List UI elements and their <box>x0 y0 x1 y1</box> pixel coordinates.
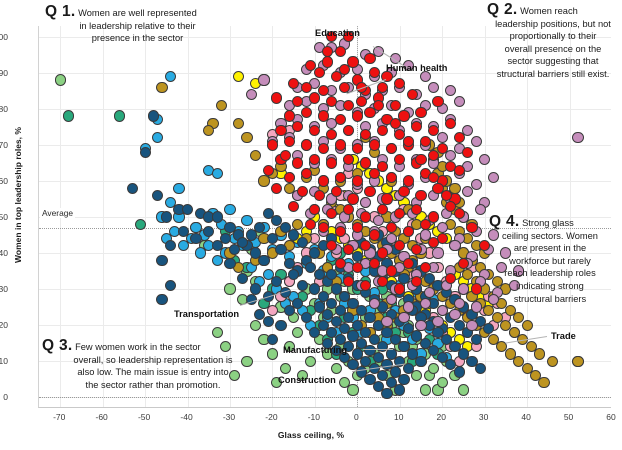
scatter-point <box>233 118 244 129</box>
label-education: Education <box>315 28 360 38</box>
x-axis-tick-label: -30 <box>209 412 249 422</box>
label-construction: Construction <box>278 375 336 385</box>
scatter-point <box>403 175 414 186</box>
scatter-point <box>165 240 176 251</box>
y-axis-tick-label: 60 <box>0 176 8 186</box>
scatter-point <box>339 82 350 93</box>
scatter-point <box>284 172 295 183</box>
scatter-point <box>292 327 303 338</box>
scatter-point <box>471 301 482 312</box>
q2-line5: sector suggesting that <box>487 55 619 68</box>
q2-line1: Women reach <box>518 6 578 16</box>
scatter-point <box>288 201 299 212</box>
scatter-point <box>250 283 261 294</box>
scatter-point <box>292 121 303 132</box>
scatter-point <box>394 283 405 294</box>
scatter-point <box>224 283 235 294</box>
scatter-point <box>415 154 426 165</box>
scatter-point <box>415 107 426 118</box>
scatter-point <box>449 309 460 320</box>
q1-line3: presence in the sector <box>45 32 230 45</box>
scatter-point <box>386 143 397 154</box>
scatter-point <box>263 208 274 219</box>
scatter-point <box>437 132 448 143</box>
scatter-point <box>381 316 392 327</box>
scatter-point <box>237 273 248 284</box>
scatter-point <box>156 294 167 305</box>
scatter-point <box>246 89 257 100</box>
y-axis-tick-label: 90 <box>0 68 8 78</box>
scatter-point <box>318 110 329 121</box>
q4-line6: indicating strong <box>489 280 611 293</box>
q4-number: Q 4. <box>489 213 520 230</box>
scatter-point <box>449 240 460 251</box>
scatter-point <box>318 143 329 154</box>
scatter-point <box>63 110 74 121</box>
scatter-point <box>140 147 151 158</box>
scatter-point <box>428 237 439 248</box>
scatter-point <box>432 316 443 327</box>
q1-line1: Women are well represented <box>76 8 197 18</box>
scatter-point <box>437 305 448 316</box>
x-axis-tick-label: -40 <box>167 412 207 422</box>
scatter-point <box>267 348 278 359</box>
q2-number: Q 2. <box>487 1 518 18</box>
label-manufacturing: Manufacturing <box>283 345 347 355</box>
scatter-point <box>258 74 269 85</box>
scatter-point <box>420 219 431 230</box>
scatter-point <box>288 269 299 280</box>
x-axis-tick-label: 20 <box>421 412 461 422</box>
scatter-point <box>352 262 363 273</box>
x-axis-tick-label: -60 <box>82 412 122 422</box>
scatter-point <box>377 247 388 258</box>
scatter-point <box>522 320 533 331</box>
scatter-point <box>305 356 316 367</box>
scatter-point <box>462 147 473 158</box>
scatter-point <box>301 107 312 118</box>
scatter-point <box>390 100 401 111</box>
scatter-point <box>161 211 172 222</box>
scatter-point <box>466 320 477 331</box>
scatter-point <box>488 172 499 183</box>
scatter-point <box>407 89 418 100</box>
x-axis-title: Glass ceiling, % <box>0 430 622 440</box>
scatter-point <box>339 64 350 75</box>
x-axis-tick-label: -70 <box>39 412 79 422</box>
scatter-point <box>271 92 282 103</box>
scatter-point <box>394 384 405 395</box>
scatter-point <box>398 312 409 323</box>
scatter-point <box>267 305 278 316</box>
scatter-point <box>483 323 494 334</box>
scatter-point <box>432 96 443 107</box>
scatter-point <box>364 53 375 64</box>
scatter-point <box>432 247 443 258</box>
q3-line2: overall, so leadership representation is <box>42 354 264 367</box>
scatter-point <box>173 183 184 194</box>
scatter-point <box>292 96 303 107</box>
quadrant-4-annotation: Q 4. Strong glass ceiling sectors. Women… <box>489 216 611 305</box>
scatter-point <box>352 110 363 121</box>
q3-line4: the sector rather than promotion. <box>42 379 264 392</box>
scatter-point <box>534 348 545 359</box>
scatter-point <box>212 211 223 222</box>
scatter-point <box>471 334 482 345</box>
y-axis-tick-label: 80 <box>0 104 8 114</box>
scatter-point <box>318 175 329 186</box>
scatter-point <box>360 157 371 168</box>
q2-line2: leadership positions, but not <box>487 18 619 31</box>
scatter-point <box>275 320 286 331</box>
scatter-point <box>275 125 286 136</box>
scatter-point <box>301 139 312 150</box>
scatter-point <box>326 129 337 140</box>
scatter-point <box>267 233 278 244</box>
scatter-point <box>195 247 206 258</box>
scatter-point <box>212 327 223 338</box>
scatter-point <box>127 183 138 194</box>
scatter-point <box>398 186 409 197</box>
scatter-point <box>454 366 465 377</box>
scatter-point <box>326 157 337 168</box>
scatter-point <box>224 204 235 215</box>
y-axis-tick-label: 10 <box>0 356 8 366</box>
average-line-label: Average <box>40 208 75 218</box>
y-axis-tick-label: 0 <box>0 392 8 402</box>
q2-line6: structural barriers still exist. <box>487 68 619 81</box>
scatter-point <box>148 110 159 121</box>
scatter-point <box>152 190 163 201</box>
scatter-point <box>280 150 291 161</box>
scatter-point <box>216 100 227 111</box>
x-axis-tick-label: 50 <box>549 412 589 422</box>
scatter-point <box>356 96 367 107</box>
scatter-point <box>156 82 167 93</box>
x-axis-tick-label: -20 <box>251 412 291 422</box>
scatter-point <box>360 211 371 222</box>
x-axis-tick-label: 10 <box>379 412 419 422</box>
scatter-point <box>347 384 358 395</box>
scatter-point <box>415 320 426 331</box>
scatter-point <box>233 71 244 82</box>
scatter-point <box>441 190 452 201</box>
scatter-point <box>267 139 278 150</box>
scatter-point <box>475 363 486 374</box>
scatter-point <box>284 136 295 147</box>
scatter-point <box>360 197 371 208</box>
scatter-point <box>343 125 354 136</box>
scatter-point <box>403 136 414 147</box>
scatter-point <box>538 377 549 388</box>
scatter-point <box>314 67 325 78</box>
x-axis-tick-label: -10 <box>294 412 334 422</box>
scatter-point <box>352 175 363 186</box>
q4-line5: reach leadership roles <box>489 267 611 280</box>
scatter-point <box>547 356 558 367</box>
scatter-point <box>297 186 308 197</box>
scatter-point <box>471 283 482 294</box>
x-axis-tick-label: 30 <box>464 412 504 422</box>
label-trade: Trade <box>551 331 576 341</box>
y-axis-tick-label: 20 <box>0 320 8 330</box>
scatter-point <box>377 125 388 136</box>
q2-line3: proportionally to their <box>487 30 619 43</box>
scatter-point <box>352 143 363 154</box>
quadrant-1-annotation: Q 1. Women are well represented in leade… <box>45 6 230 45</box>
scatter-point <box>224 258 235 269</box>
y-axis-tick-label: 30 <box>0 284 8 294</box>
scatter-point <box>305 219 316 230</box>
scatter-point <box>381 193 392 204</box>
scatter-point <box>458 283 469 294</box>
scatter-point <box>454 96 465 107</box>
scatter-point <box>369 229 380 240</box>
scatter-point <box>250 150 261 161</box>
y-axis-title: Women in top leadership roles, % <box>13 85 23 305</box>
scatter-point <box>369 298 380 309</box>
scatter-point <box>437 377 448 388</box>
scatter-point <box>437 222 448 233</box>
scatter-point <box>335 46 346 57</box>
scatter-point <box>322 56 333 67</box>
scatter-point <box>335 139 346 150</box>
scatter-point <box>263 316 274 327</box>
scatter-point <box>466 222 477 233</box>
scatter-point <box>292 157 303 168</box>
scatter-point <box>267 334 278 345</box>
scatter-point <box>212 168 223 179</box>
quadrant-2-annotation: Q 2. Women reach leadership positions, b… <box>487 4 619 81</box>
scatter-point <box>331 363 342 374</box>
scatter-point <box>428 82 439 93</box>
label-manufacturing-leader-line <box>363 349 393 350</box>
scatter-point <box>373 215 384 226</box>
scatter-point <box>335 114 346 125</box>
q4-line3: are present in the <box>489 242 611 255</box>
scatter-point <box>386 172 397 183</box>
scatter-point <box>415 356 426 367</box>
x-axis-tick-label: 0 <box>336 412 376 422</box>
scatter-point <box>454 132 465 143</box>
quadrant-3-annotation: Q 3. Few women work in the sector overal… <box>42 340 264 391</box>
scatter-point <box>203 226 214 237</box>
label-transportation: Transportation <box>174 309 239 319</box>
scatter-point <box>347 193 358 204</box>
y-axis-tick-label: 40 <box>0 248 8 258</box>
scatter-point <box>373 100 384 111</box>
scatter-point <box>280 363 291 374</box>
x-axis-tick-label: 60 <box>591 412 622 422</box>
q3-number: Q 3. <box>42 337 73 354</box>
scatter-point <box>258 255 269 266</box>
q4-line2: ceiling sectors. Women <box>489 230 611 243</box>
scatter-point <box>390 118 401 129</box>
scatter-point <box>335 226 346 237</box>
scatter-point <box>411 121 422 132</box>
scatter-point <box>415 190 426 201</box>
scatter-point <box>212 255 223 266</box>
scatter-point <box>454 298 465 309</box>
x-axis-tick-label: 40 <box>506 412 546 422</box>
scatter-point <box>445 85 456 96</box>
scatter-point <box>182 204 193 215</box>
scatter-point <box>471 136 482 147</box>
q1-number: Q 1. <box>45 3 76 20</box>
scatter-point <box>314 190 325 201</box>
scatter-point <box>398 374 409 385</box>
scatter-point <box>190 233 201 244</box>
scatter-point <box>178 226 189 237</box>
scatter-point <box>369 139 380 150</box>
scatter-point <box>322 46 333 57</box>
scatter-point <box>165 71 176 82</box>
scatter-point <box>203 125 214 136</box>
scatter-point <box>335 172 346 183</box>
scatter-point <box>420 262 431 273</box>
zero-leadership-line <box>39 397 611 398</box>
scatter-point <box>309 125 320 136</box>
scatter-point <box>55 74 66 85</box>
scatter-point <box>572 132 583 143</box>
scatter-point <box>360 129 371 140</box>
x-axis-tick-label: -50 <box>124 412 164 422</box>
q4-line7: structural barriers <box>489 293 611 306</box>
scatter-point <box>284 110 295 121</box>
gridline-vertical <box>485 26 486 407</box>
scatter-point <box>394 240 405 251</box>
scatter-point <box>462 186 473 197</box>
scatter-point <box>301 82 312 93</box>
scatter-point <box>458 384 469 395</box>
q1-line2: in leadership relative to their <box>45 20 230 33</box>
scatter-point <box>156 255 167 266</box>
y-axis-tick-label: 100 <box>0 32 8 42</box>
scatter-point <box>114 110 125 121</box>
scatter-point <box>152 132 163 143</box>
y-axis-tick-label: 70 <box>0 140 8 150</box>
scatter-point <box>241 132 252 143</box>
scatter-point <box>288 229 299 240</box>
q3-line3: also low. The main issue is entry into <box>42 366 264 379</box>
scatter-point <box>271 183 282 194</box>
scatter-point <box>420 136 431 147</box>
scatter-point <box>229 244 240 255</box>
q4-line1: Strong glass <box>520 218 574 228</box>
scatter-point <box>445 118 456 129</box>
y-axis-tick-label: 50 <box>0 212 8 222</box>
scatter-point <box>309 92 320 103</box>
scatter-point <box>479 154 490 165</box>
scatter-point <box>297 280 308 291</box>
scatter-point <box>381 388 392 399</box>
scatter-point <box>331 186 342 197</box>
scatter-point <box>250 320 261 331</box>
scatter-point <box>386 265 397 276</box>
scatter-point <box>275 244 286 255</box>
scatter-point <box>420 298 431 309</box>
q2-line4: overall presence on the <box>487 43 619 56</box>
scatter-point <box>454 208 465 219</box>
scatter-point <box>263 165 274 176</box>
scatter-point <box>572 356 583 367</box>
scatter-point <box>420 384 431 395</box>
scatter-point <box>241 215 252 226</box>
scatter-point <box>428 363 439 374</box>
scatter-point <box>454 165 465 176</box>
scatter-point <box>403 301 414 312</box>
scatter-point <box>445 273 456 284</box>
q4-line4: workforce but rarely <box>489 255 611 268</box>
label-human-health: Human health <box>386 63 447 73</box>
scatter-chart: Average Women in top leadership roles, %… <box>0 0 622 450</box>
scatter-point <box>403 226 414 237</box>
q3-line1: Few women work in the sector <box>73 342 201 352</box>
scatter-point <box>364 186 375 197</box>
